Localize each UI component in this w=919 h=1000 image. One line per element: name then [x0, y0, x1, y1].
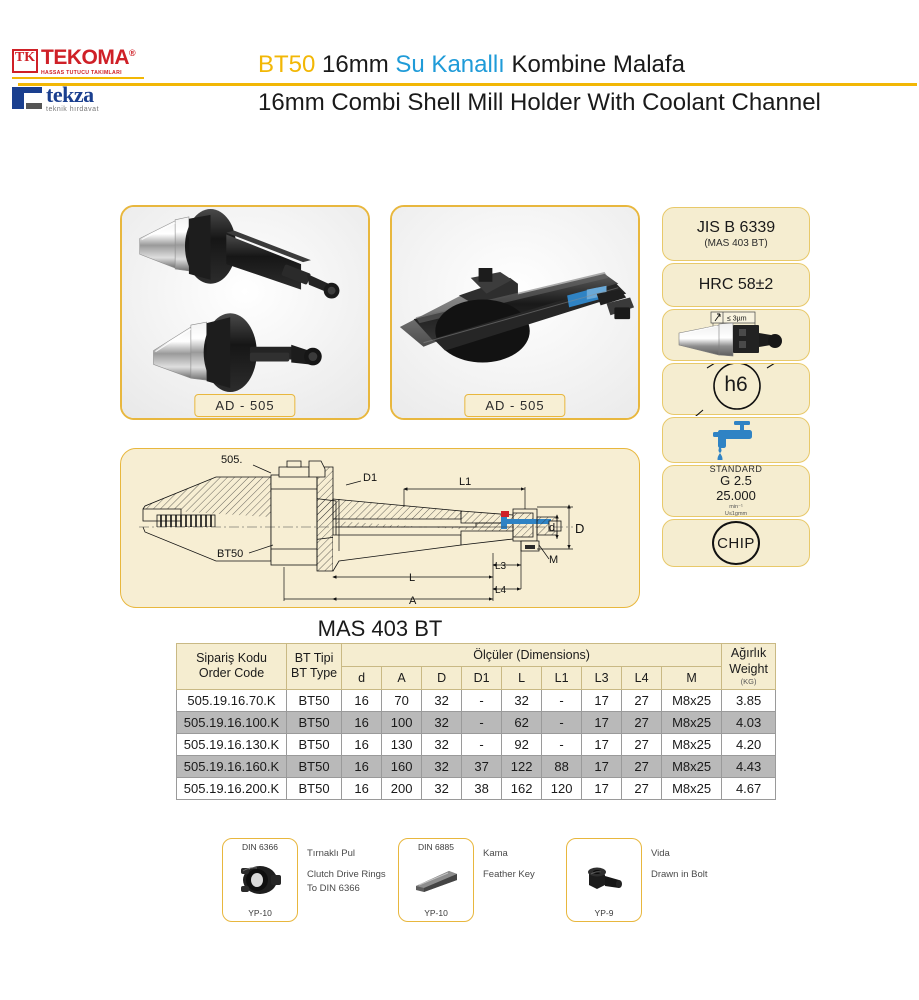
table-header: Sipariş Kodu Order Code BT Tipi BT Type … — [177, 644, 776, 690]
badge-balance: STANDARD G 2.5 25.000 min⁻¹ U≤1gmm — [662, 465, 810, 517]
balance-unbalance: U≤1gmm — [725, 511, 747, 518]
cell-type: BT50 — [287, 689, 342, 711]
cell-A: 100 — [382, 711, 422, 733]
badge-standard: JIS B 6339 (MAS 403 BT) — [662, 207, 810, 261]
technical-drawing-panel: 505. BT50 D1 L1 L A L3 L4 M d D — [120, 448, 640, 608]
cell-L3: 17 — [582, 711, 622, 733]
cell-d: 16 — [342, 777, 382, 799]
cell-D1: 38 — [462, 777, 502, 799]
cell-d: 16 — [342, 689, 382, 711]
cell-type: BT50 — [287, 755, 342, 777]
label-m: M — [549, 554, 558, 566]
cell-M: M8x25 — [662, 733, 722, 755]
technical-drawing: 505. BT50 D1 L1 L A L3 L4 M d D — [121, 449, 640, 608]
title-highlight: Su Kanallı — [395, 51, 504, 78]
cell-D: 32 — [422, 777, 462, 799]
feather-key-icon — [411, 861, 461, 899]
accessory-description: Vida Drawn in Bolt — [651, 838, 708, 882]
table-row: 505.19.16.160.KBT50161603237122881727M8x… — [177, 755, 776, 777]
cell-L4: 27 — [622, 755, 662, 777]
accessory-item-drawn-in-bolt: YP-9 Vida Drawn in Bolt — [566, 838, 708, 922]
cell-L3: 17 — [582, 689, 622, 711]
product-photo-1-image — [122, 207, 368, 419]
label-d-big: D — [575, 521, 584, 536]
hardness-value: HRC 58±2 — [699, 276, 774, 294]
cell-L4: 27 — [622, 711, 662, 733]
cell-M: M8x25 — [662, 711, 722, 733]
product-photo-panel-1: AD - 505 — [120, 205, 370, 420]
cell-L3: 17 — [582, 755, 622, 777]
tekoma-tagline: HASSAS TUTUCU TAKIMLARI — [41, 70, 135, 76]
table-row: 505.19.16.130.KBT501613032-92-1727M8x254… — [177, 733, 776, 755]
accessory-description: Kama Feather Key — [483, 838, 535, 882]
table-row: 505.19.16.100.KBT501610032-62-1727M8x254… — [177, 711, 776, 733]
cell-weight: 4.67 — [722, 777, 776, 799]
cell-code: 505.19.16.100.K — [177, 711, 287, 733]
cell-A: 160 — [382, 755, 422, 777]
accessory-din-label: DIN 6885 — [399, 842, 473, 852]
title-rest: Kombine Malafa — [511, 51, 684, 78]
th-bt-type: BT Tipi BT Type — [287, 644, 342, 690]
cell-L: 92 — [502, 733, 542, 755]
label-bt50: BT50 — [217, 548, 243, 560]
title-bt-code: BT50 — [258, 51, 315, 78]
table-body: 505.19.16.70.KBT50167032-32-1727M8x253.8… — [177, 689, 776, 799]
label-d1: D1 — [363, 472, 377, 484]
badge-hardness: HRC 58±2 — [662, 263, 810, 307]
label-l3: L3 — [495, 561, 507, 572]
page-title: BT50 16mm Su Kanallı Kombine Malafa 16mm… — [258, 50, 899, 119]
cell-weight: 4.03 — [722, 711, 776, 733]
cell-A: 70 — [382, 689, 422, 711]
badge-tolerance: h6 — [662, 363, 810, 415]
cell-D1: - — [462, 711, 502, 733]
cell-weight: 4.20 — [722, 733, 776, 755]
accessory-part-number: YP-10 — [223, 908, 297, 918]
th-dim-l: L — [502, 666, 542, 689]
balance-rpm-unit: min⁻¹ — [729, 504, 743, 511]
th-order-code: Sipariş Kodu Order Code — [177, 644, 287, 690]
cell-L: 122 — [502, 755, 542, 777]
cell-L4: 27 — [622, 689, 662, 711]
specifications-table: Sipariş Kodu Order Code BT Tipi BT Type … — [176, 643, 776, 800]
tekza-tagline: teknik hırdavat — [46, 106, 99, 113]
cell-D1: 37 — [462, 755, 502, 777]
cell-d: 16 — [342, 733, 382, 755]
th-dim-l4: L4 — [622, 666, 662, 689]
cell-d: 16 — [342, 755, 382, 777]
cell-type: BT50 — [287, 711, 342, 733]
cell-D1: - — [462, 733, 502, 755]
balance-grade: G 2.5 — [720, 474, 752, 489]
cell-L: 162 — [502, 777, 542, 799]
page-header: TK TEKOMA® HASSAS TUTUCU TAKIMLARI tekza… — [0, 0, 919, 140]
cell-type: BT50 — [287, 777, 342, 799]
tekoma-logo: TK TEKOMA® HASSAS TUTUCU TAKIMLARI — [12, 48, 152, 74]
photo-caption-2: AD - 505 — [464, 394, 565, 417]
table-row: 505.19.16.70.KBT50167032-32-1727M8x253.8… — [177, 689, 776, 711]
cell-L: 32 — [502, 689, 542, 711]
accessory-description: Tırnaklı Pul Clutch Drive Rings To DIN 6… — [307, 838, 386, 895]
th-dim-l3: L3 — [582, 666, 622, 689]
cell-d: 16 — [342, 711, 382, 733]
label-l1: L1 — [459, 476, 471, 488]
cell-D: 32 — [422, 689, 462, 711]
tekoma-monogram-icon: TK — [12, 49, 38, 73]
th-dim-a: A — [382, 666, 422, 689]
cell-L1: 88 — [542, 755, 582, 777]
title-english: 16mm Combi Shell Mill Holder With Coolan… — [258, 87, 899, 119]
logo-group: TK TEKOMA® HASSAS TUTUCU TAKIMLARI tekza… — [12, 48, 152, 111]
cell-A: 130 — [382, 733, 422, 755]
cell-D: 32 — [422, 755, 462, 777]
drawn-in-bolt-icon — [579, 861, 629, 899]
title-size: 16mm — [322, 51, 389, 78]
label-code: 505. — [221, 454, 242, 466]
cell-D1: - — [462, 689, 502, 711]
cell-L1: - — [542, 733, 582, 755]
th-dim-d1: D1 — [462, 666, 502, 689]
tekoma-registered-icon: ® — [129, 48, 135, 58]
cell-L4: 27 — [622, 733, 662, 755]
accessory-din-label: DIN 6366 — [223, 842, 297, 852]
th-dim-l1: L1 — [542, 666, 582, 689]
product-photo-2-image — [392, 207, 638, 419]
cell-type: BT50 — [287, 733, 342, 755]
cell-L1: - — [542, 689, 582, 711]
accessory-part-number: YP-9 — [567, 908, 641, 918]
title-divider — [18, 83, 917, 86]
clutch-drive-ring-icon — [235, 861, 285, 899]
cell-L: 62 — [502, 711, 542, 733]
cell-D: 32 — [422, 733, 462, 755]
cell-L3: 17 — [582, 733, 622, 755]
cell-L4: 27 — [622, 777, 662, 799]
th-dimensions-group: Ölçüler (Dimensions) — [342, 644, 722, 667]
tekza-wordmark: tekza teknik hırdavat — [46, 84, 99, 113]
drawing-heading: MAS 403 BT — [120, 616, 640, 642]
runout-diagram-icon: ≤ 3µm — [667, 311, 805, 359]
tekza-logo: tekza teknik hırdavat — [12, 85, 152, 111]
cell-L1: - — [542, 711, 582, 733]
label-l4: L4 — [495, 585, 507, 596]
cell-D: 32 — [422, 711, 462, 733]
balance-rpm: 25.000 — [716, 489, 756, 504]
tekoma-name: TEKOMA — [41, 46, 129, 69]
accessory-box: DIN 6885 YP-10 — [398, 838, 474, 922]
product-photo-panel-2: AD - 505 — [390, 205, 640, 420]
accessory-item-feather-key: DIN 6885 YP-10 Kama Feather Key — [398, 838, 535, 922]
title-turkish: BT50 16mm Su Kanallı Kombine Malafa — [258, 50, 899, 80]
tekza-name: tekza — [46, 84, 99, 106]
cell-M: M8x25 — [662, 755, 722, 777]
cell-L3: 17 — [582, 777, 622, 799]
cell-A: 200 — [382, 777, 422, 799]
accessory-box: YP-9 — [566, 838, 642, 922]
tekoma-wordmark: TEKOMA® HASSAS TUTUCU TAKIMLARI — [41, 47, 135, 76]
label-l: L — [409, 572, 415, 584]
label-d-small: d — [549, 522, 555, 534]
cell-weight: 4.43 — [722, 755, 776, 777]
cell-weight: 3.85 — [722, 689, 776, 711]
accessory-box: DIN 6366 YP-10 — [222, 838, 298, 922]
standard-subcode: (MAS 403 BT) — [704, 238, 767, 249]
cell-code: 505.19.16.200.K — [177, 777, 287, 799]
standard-code: JIS B 6339 — [697, 219, 775, 237]
tolerance-value: h6 — [724, 373, 747, 396]
accessory-part-number: YP-10 — [399, 908, 473, 918]
cell-M: M8x25 — [662, 689, 722, 711]
chip-label: CHIP — [712, 521, 760, 565]
th-dim-dd: D — [422, 666, 462, 689]
logo-divider — [12, 77, 144, 79]
cell-code: 505.19.16.70.K — [177, 689, 287, 711]
cell-L1: 120 — [542, 777, 582, 799]
badge-chip: CHIP — [662, 519, 810, 567]
cell-code: 505.19.16.130.K — [177, 733, 287, 755]
tekza-monogram-icon — [12, 87, 42, 109]
th-dim-m: M — [662, 666, 722, 689]
table-row: 505.19.16.200.KBT501620032381621201727M8… — [177, 777, 776, 799]
badge-runout: ≤ 3µm — [662, 309, 810, 361]
svg-text:≤ 3µm: ≤ 3µm — [727, 316, 747, 323]
photo-caption-1: AD - 505 — [194, 394, 295, 417]
accessory-item-clutch-drive-rings: DIN 6366 YP-10 Tırnaklı Pul Clutch Drive… — [222, 838, 386, 922]
cell-M: M8x25 — [662, 777, 722, 799]
label-a: A — [409, 595, 417, 607]
badge-coolant — [662, 417, 810, 463]
th-weight: Ağırlık Weight (KG) — [722, 644, 776, 690]
th-dim-d: d — [342, 666, 382, 689]
cell-code: 505.19.16.160.K — [177, 755, 287, 777]
faucet-icon — [708, 420, 764, 460]
